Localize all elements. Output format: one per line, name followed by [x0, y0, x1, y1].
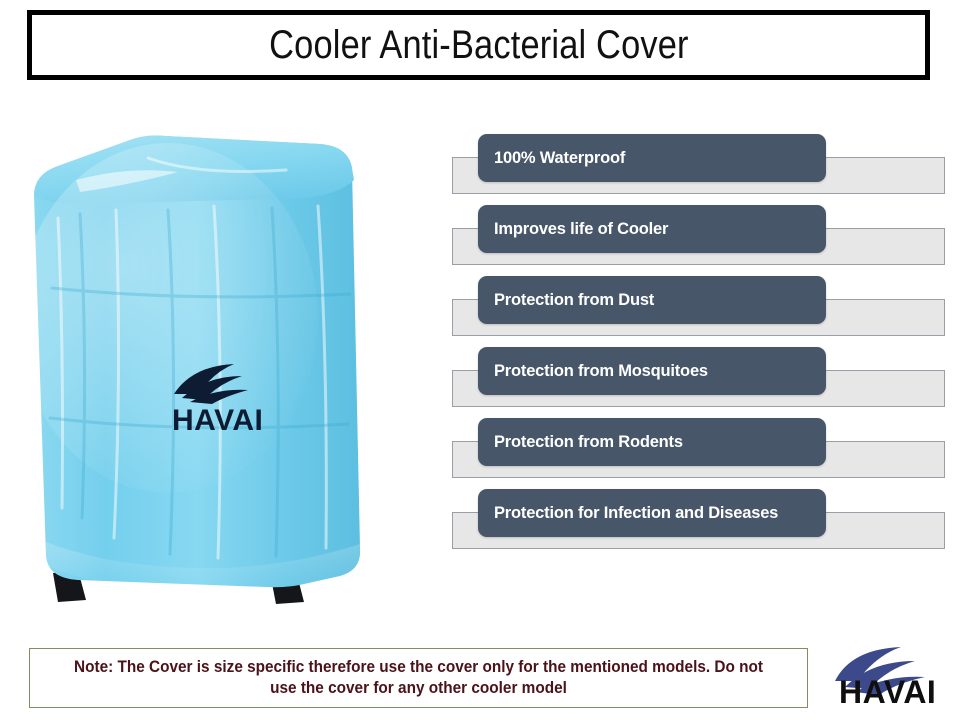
- infographic-page: Cooler Anti-Bacterial Cover: [0, 0, 960, 720]
- feature-label: Protection from Mosquitoes: [478, 362, 708, 381]
- feature-item: Protection from Dust: [452, 270, 952, 341]
- page-title-box: Cooler Anti-Bacterial Cover: [27, 10, 930, 80]
- note-box: Note: The Cover is size specific therefo…: [29, 648, 808, 708]
- feature-item: 100% Waterproof: [452, 128, 952, 199]
- havai-wordmark: HAVAI: [839, 674, 936, 707]
- feature-pill[interactable]: Protection for Infection and Diseases: [478, 489, 826, 537]
- feature-label: Improves life of Cooler: [478, 220, 668, 239]
- feature-pill[interactable]: Improves life of Cooler: [478, 205, 826, 253]
- note-text: Note: The Cover is size specific therefo…: [66, 657, 770, 699]
- feature-pill[interactable]: Protection from Dust: [478, 276, 826, 324]
- feature-item: Protection for Infection and Diseases: [452, 483, 952, 554]
- feature-label: Protection for Infection and Diseases: [478, 504, 778, 523]
- feature-label: Protection from Dust: [478, 291, 654, 310]
- feature-pill[interactable]: 100% Waterproof: [478, 134, 826, 182]
- product-image: HAVAI: [18, 118, 418, 618]
- feature-label: 100% Waterproof: [478, 149, 625, 168]
- feature-list: 100% Waterproof Improves life of Cooler …: [452, 128, 952, 558]
- feature-pill[interactable]: Protection from Mosquitoes: [478, 347, 826, 395]
- svg-text:HAVAI: HAVAI: [172, 404, 263, 437]
- feature-item: Protection from Mosquitoes: [452, 341, 952, 412]
- feature-pill[interactable]: Protection from Rodents: [478, 418, 826, 466]
- feature-item: Protection from Rodents: [452, 412, 952, 483]
- feature-item: Improves life of Cooler: [452, 199, 952, 270]
- havai-brand-logo: HAVAI: [833, 645, 951, 707]
- feature-label: Protection from Rodents: [478, 433, 683, 452]
- page-title: Cooler Anti-Bacterial Cover: [269, 23, 689, 68]
